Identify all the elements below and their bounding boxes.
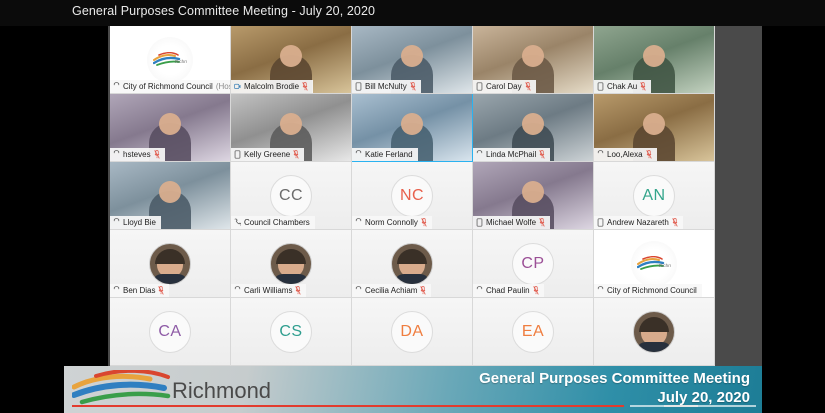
- microphone-muted-icon: [646, 150, 652, 159]
- phone-icon: [113, 218, 120, 227]
- participant-name: Chak Au: [607, 81, 637, 92]
- microphone-muted-icon: [293, 150, 299, 159]
- participant-tile[interactable]: RichmondCity of Richmond Council: [594, 230, 715, 298]
- avatar-initials: NC: [391, 175, 433, 217]
- microphone-muted-icon: [302, 82, 308, 91]
- svg-text:Richmond: Richmond: [659, 263, 671, 268]
- participant-gallery[interactable]: RichmondCity of Richmond Council(Host)Ma…: [110, 26, 715, 366]
- avatar-photo: [391, 243, 433, 285]
- participant-name: Chad Paulin: [486, 285, 530, 296]
- participant-name: Linda McPhail: [486, 149, 536, 160]
- participant-name: Carol Day: [486, 81, 522, 92]
- participant-tile[interactable]: Lloyd Bie: [110, 162, 231, 230]
- svg-text:Richmond: Richmond: [175, 59, 187, 64]
- participant-name: Norm Connolly: [365, 217, 418, 228]
- participant-name: Loo,Alexa: [607, 149, 643, 160]
- participant-name-plate: Carol Day: [473, 80, 536, 93]
- avatar-photo: [633, 311, 675, 353]
- participant-tile[interactable]: Kelly Greene: [231, 94, 352, 162]
- participant-tile[interactable]: CCCouncil Chambers: [231, 162, 352, 230]
- participant-name: City of Richmond Council: [123, 81, 213, 92]
- participant-name-plate: Bill McNulty: [352, 80, 421, 93]
- mobile-icon: [355, 82, 362, 91]
- participant-name-plate: Carli Williams: [231, 284, 306, 297]
- mobile-icon: [597, 82, 604, 91]
- microphone-muted-icon: [158, 286, 164, 295]
- banner-title-line1: General Purposes Committee Meeting: [479, 369, 750, 388]
- participant-tile[interactable]: EA: [473, 298, 594, 366]
- participant-tile[interactable]: hsteves: [110, 94, 231, 162]
- participant-tile[interactable]: CA: [110, 298, 231, 366]
- phone-icon: [597, 150, 604, 159]
- avatar-initials: DA: [391, 311, 433, 353]
- participant-tile[interactable]: Carol Day: [473, 26, 594, 94]
- avatar-initials: AN: [633, 175, 675, 217]
- avatar-photo: [270, 243, 312, 285]
- avatar-initials: CS: [270, 311, 312, 353]
- phone-icon: [355, 286, 362, 295]
- participant-tile[interactable]: RichmondCity of Richmond Council(Host): [110, 26, 231, 94]
- participant-name: City of Richmond Council: [607, 285, 697, 296]
- phone-icon: [113, 286, 120, 295]
- microphone-muted-icon: [533, 286, 539, 295]
- participant-tile[interactable]: Bill McNulty: [352, 26, 473, 94]
- svg-text:Richmond: Richmond: [172, 378, 271, 403]
- participant-name-plate: Chak Au: [594, 80, 651, 93]
- phone-icon: [113, 82, 120, 91]
- participant-name-plate: hsteves: [110, 148, 165, 161]
- microphone-muted-icon: [539, 150, 545, 159]
- participant-name-plate: Council Chambers: [231, 216, 315, 229]
- avatar-initials: CC: [270, 175, 312, 217]
- avatar: DA: [352, 298, 472, 365]
- mobile-icon: [476, 82, 483, 91]
- participant-name-plate: Lloyd Bie: [110, 216, 161, 229]
- participant-tile[interactable]: [594, 298, 715, 366]
- banner-title: General Purposes Committee Meeting July …: [479, 369, 750, 407]
- participant-name-plate: Malcolm Brodie: [231, 80, 313, 93]
- title-bar: General Purposes Committee Meeting - Jul…: [0, 0, 825, 26]
- participant-name: Kelly Greene: [244, 149, 290, 160]
- microphone-muted-icon: [672, 218, 678, 227]
- participant-name-plate: Michael Wolfe: [473, 216, 550, 229]
- participant-tile[interactable]: Ben Dias: [110, 230, 231, 298]
- handset-icon: [234, 218, 241, 227]
- mobile-icon: [476, 218, 483, 227]
- phone-icon: [476, 150, 483, 159]
- participant-tile[interactable]: Chak Au: [594, 26, 715, 94]
- participant-name: Michael Wolfe: [486, 217, 536, 228]
- phone-icon: [234, 286, 241, 295]
- participant-name-plate: Katie Ferland: [352, 148, 418, 161]
- participant-tile[interactable]: NCNorm Connolly: [352, 162, 473, 230]
- richmond-logo-avatar: Richmond: [147, 37, 193, 83]
- microphone-muted-icon: [539, 218, 545, 227]
- participant-tile[interactable]: Michael Wolfe: [473, 162, 594, 230]
- participant-tile[interactable]: Linda McPhail: [473, 94, 594, 162]
- banner-rule-tertiary: [664, 405, 698, 407]
- participant-name: Ben Dias: [123, 285, 155, 296]
- phone-icon: [355, 150, 362, 159]
- participant-name-plate: Loo,Alexa: [594, 148, 657, 161]
- participant-tile[interactable]: ANAndrew Nazareth: [594, 162, 715, 230]
- avatar-initials: EA: [512, 311, 554, 353]
- phone-icon: [355, 218, 362, 227]
- avatar: CS: [231, 298, 351, 365]
- microphone-muted-icon: [421, 218, 427, 227]
- phone-icon: [597, 286, 604, 295]
- participant-name: Cecilia Achiam: [365, 285, 417, 296]
- richmond-logo: Richmond: [72, 370, 302, 408]
- avatar: CA: [110, 298, 230, 365]
- phone-icon: [113, 150, 120, 159]
- phone-icon: [476, 286, 483, 295]
- participant-tile[interactable]: Loo,Alexa: [594, 94, 715, 162]
- participant-name: Andrew Nazareth: [607, 217, 669, 228]
- host-label: (Host): [216, 81, 231, 92]
- participant-name: Malcolm Brodie: [244, 81, 299, 92]
- microphone-muted-icon: [295, 286, 301, 295]
- richmond-logo-avatar: Richmond: [631, 241, 677, 287]
- avatar: EA: [473, 298, 593, 365]
- microphone-muted-icon: [154, 150, 160, 159]
- participant-name-plate: Ben Dias: [110, 284, 169, 297]
- participant-name: hsteves: [123, 149, 151, 160]
- participant-tile[interactable]: Cecilia Achiam: [352, 230, 473, 298]
- participant-name-plate: City of Richmond Council(Host): [110, 80, 230, 93]
- avatar-photo: [149, 243, 191, 285]
- participant-name: Council Chambers: [244, 217, 310, 228]
- participant-name-plate: Andrew Nazareth: [594, 216, 683, 229]
- participant-name-plate: Linda McPhail: [473, 148, 550, 161]
- avatar-initials: CA: [149, 311, 191, 353]
- participant-name-plate: City of Richmond Council: [594, 284, 702, 297]
- video-icon: [234, 82, 241, 91]
- participant-name-plate: Cecilia Achiam: [352, 284, 431, 297]
- microphone-muted-icon: [525, 82, 531, 91]
- window-title: General Purposes Committee Meeting - Jul…: [72, 4, 375, 18]
- avatar: [594, 298, 714, 365]
- mobile-icon: [597, 218, 604, 227]
- avatar-initials: CP: [512, 243, 554, 285]
- participant-name-plate: Norm Connolly: [352, 216, 432, 229]
- participant-name: Bill McNulty: [365, 81, 407, 92]
- mobile-icon: [234, 150, 241, 159]
- participant-name-plate: Chad Paulin: [473, 284, 544, 297]
- microphone-muted-icon: [640, 82, 646, 91]
- participant-tile[interactable]: DA: [352, 298, 473, 366]
- screen-root: General Purposes Committee Meeting - Jul…: [0, 0, 825, 413]
- participant-name: Carli Williams: [244, 285, 292, 296]
- participant-tile[interactable]: Malcolm Brodie: [231, 26, 352, 94]
- richmond-banner: Richmond General Purposes Committee Meet…: [64, 366, 762, 413]
- participant-tile[interactable]: CS: [231, 298, 352, 366]
- participant-name-plate: Kelly Greene: [231, 148, 304, 161]
- banner-accent-rule: [72, 405, 624, 407]
- participant-tile[interactable]: Carli Williams: [231, 230, 352, 298]
- microphone-muted-icon: [420, 286, 426, 295]
- participant-tile[interactable]: CPChad Paulin: [473, 230, 594, 298]
- microphone-muted-icon: [410, 82, 416, 91]
- participant-tile[interactable]: Katie Ferland: [352, 94, 473, 162]
- participant-name: Katie Ferland: [365, 149, 413, 160]
- participant-name: Lloyd Bie: [123, 217, 156, 228]
